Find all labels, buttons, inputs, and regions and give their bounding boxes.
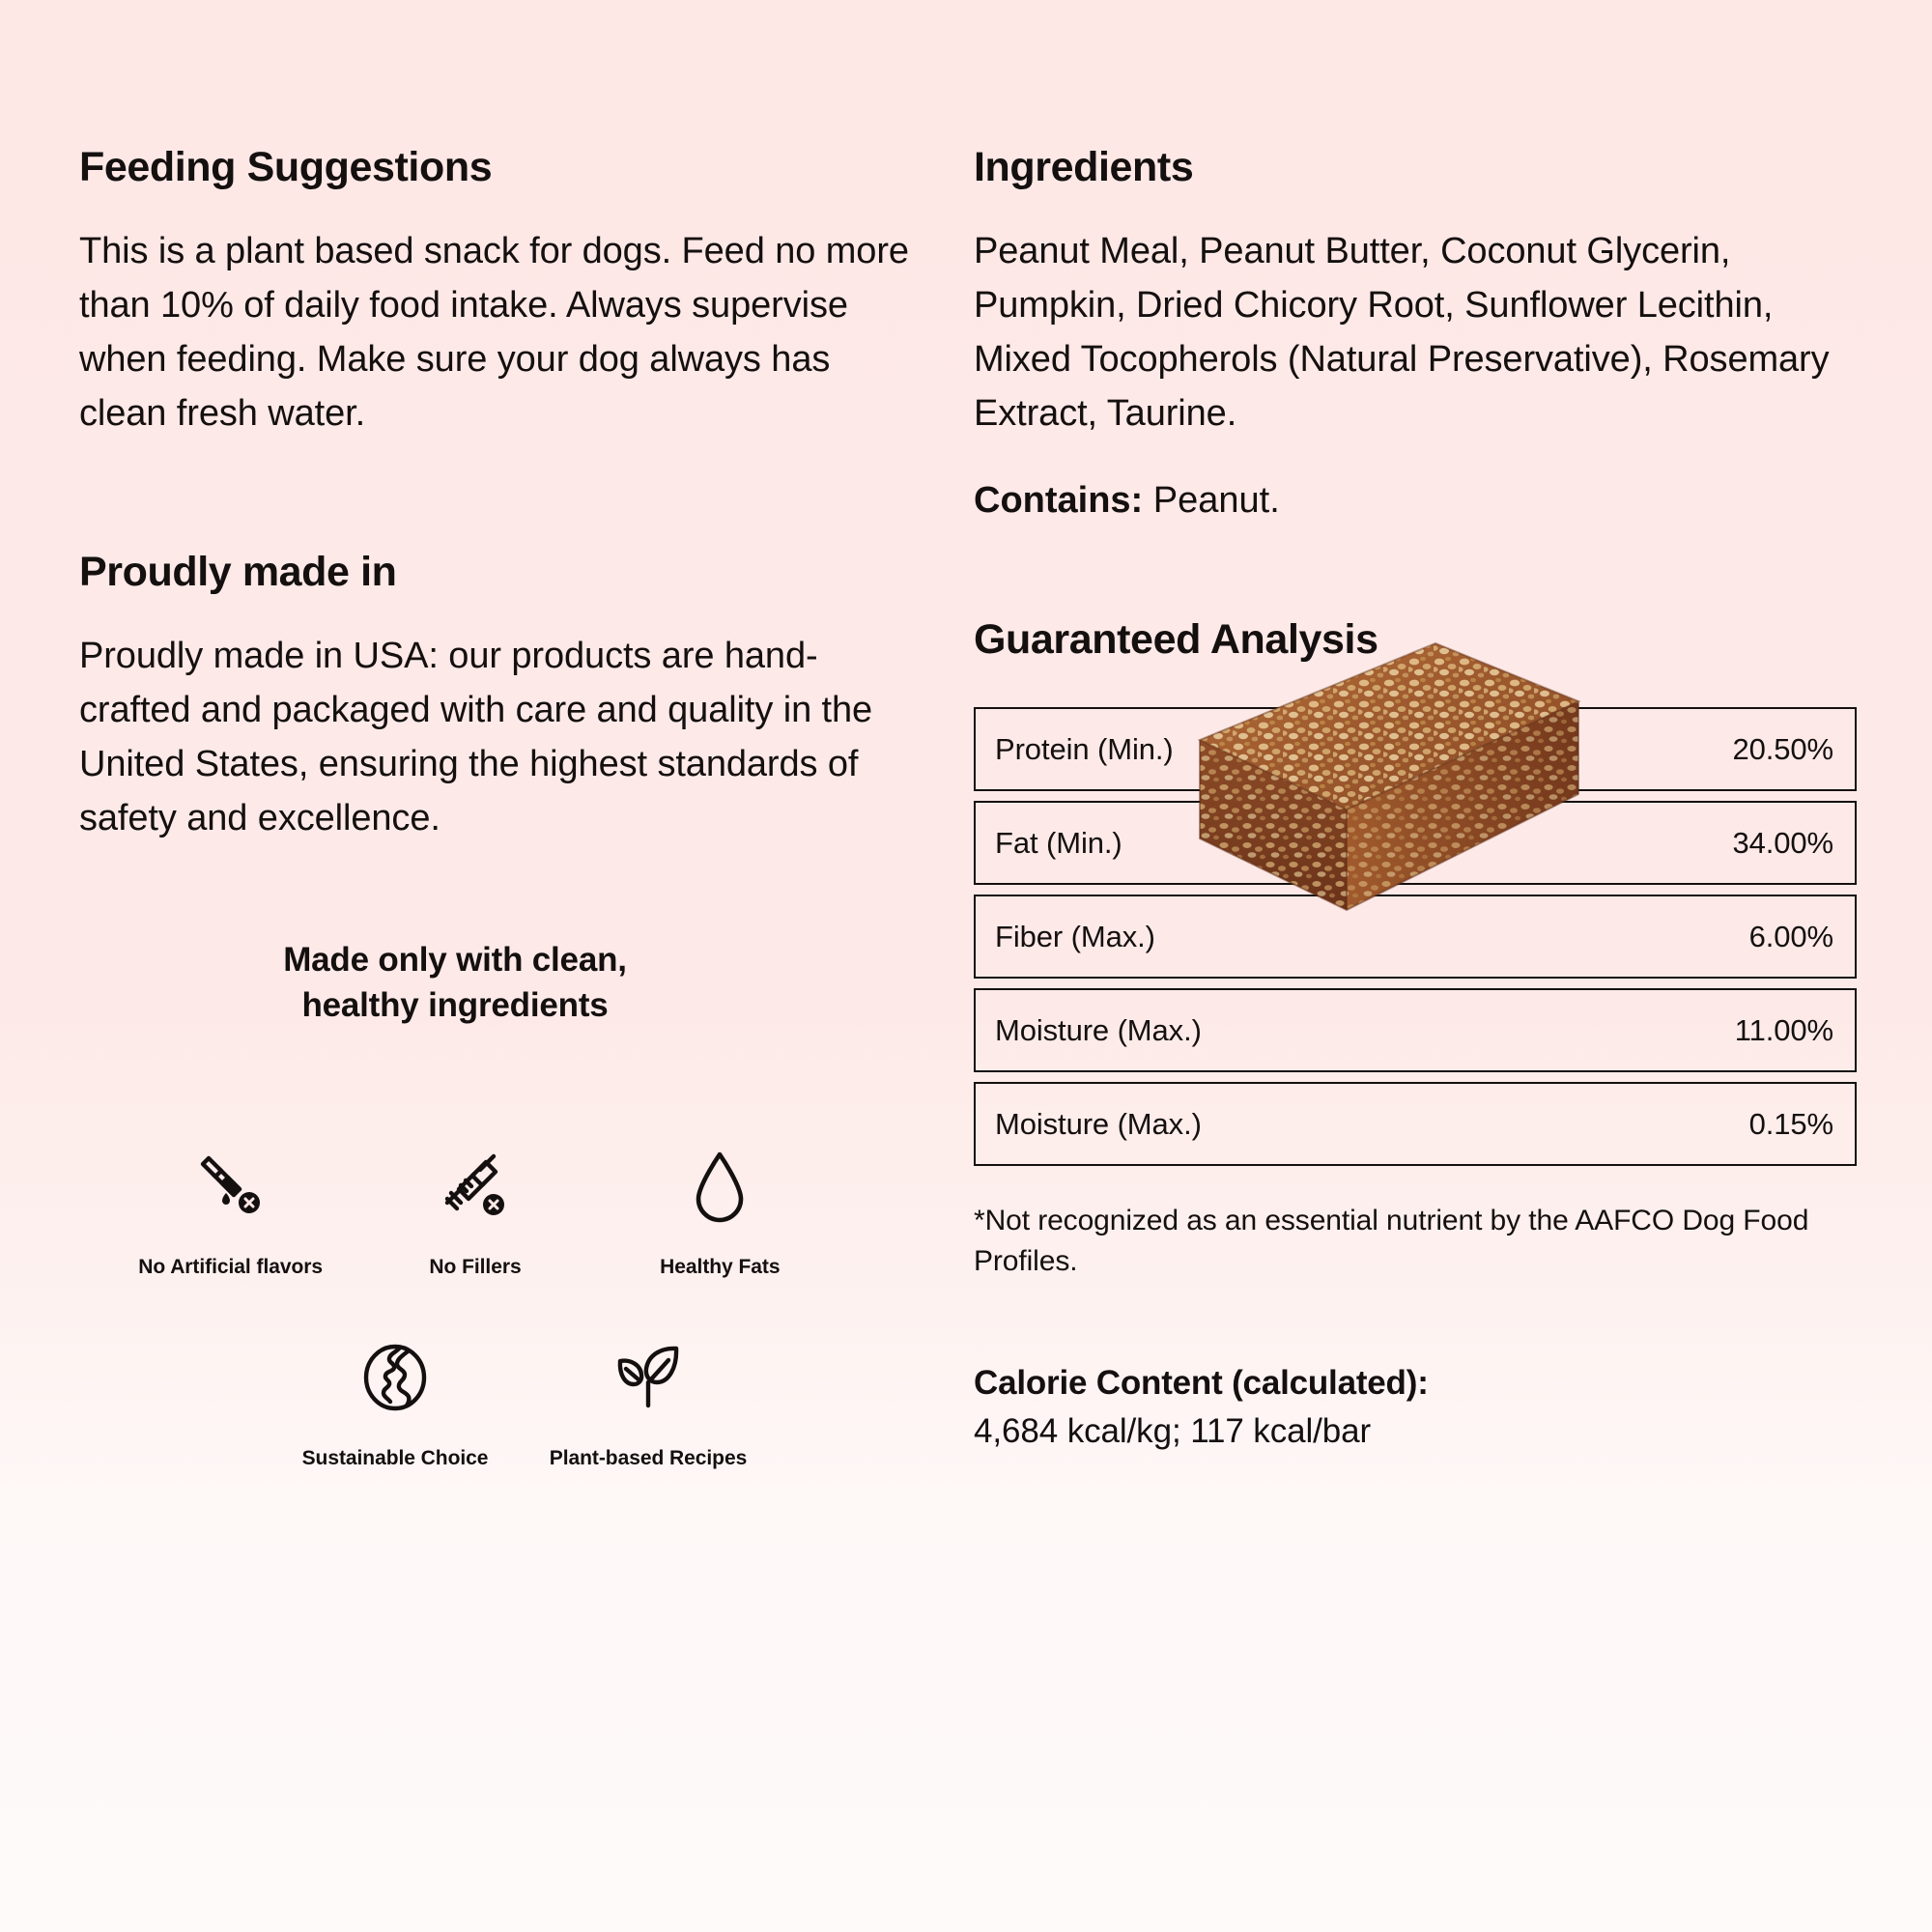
table-row: Moisture (Max.) 0.15% — [974, 1082, 1857, 1166]
clean-ingredients-tagline: Made only with clean, healthy ingredient… — [79, 938, 794, 1027]
badge-label: Plant-based Recipes — [550, 1447, 747, 1470]
feeding-suggestions-title: Feeding Suggestions — [79, 145, 973, 190]
calorie-content-section: Calorie Content (calculated): 4,684 kcal… — [974, 1364, 1857, 1451]
badge-plant-based-recipes: Plant-based Recipes — [522, 1333, 775, 1470]
badge-sustainable-choice: Sustainable Choice — [269, 1333, 522, 1470]
aafco-footnote: *Not recognized as an essential nutrient… — [974, 1201, 1857, 1283]
nutrient-name: Moisture (Max.) — [974, 988, 1534, 1072]
proudly-made-in-title: Proudly made in — [79, 550, 973, 595]
badge-label: Sustainable Choice — [302, 1447, 489, 1470]
product-bar-image — [1057, 551, 1598, 966]
ingredients-title: Ingredients — [974, 145, 1857, 190]
feature-badges-row-1: No Artificial flavors — [108, 1142, 842, 1279]
sprout-leaf-icon — [607, 1333, 690, 1422]
feeding-suggestions-text: This is a plant based snack for dogs. Fe… — [79, 225, 910, 440]
badge-label: No Artificial flavors — [138, 1256, 323, 1279]
contains-value: Peanut. — [1153, 480, 1280, 521]
badge-label: Healthy Fats — [660, 1256, 780, 1279]
table-row: Moisture (Max.) 11.00% — [974, 988, 1857, 1072]
product-info-page: Feeding Suggestions This is a plant base… — [0, 0, 1932, 1932]
proudly-made-in-section: Proudly made in Proudly made in USA: our… — [79, 550, 973, 846]
left-column: Feeding Suggestions This is a plant base… — [79, 145, 973, 1932]
badge-healthy-fats: Healthy Fats — [598, 1142, 842, 1279]
proudly-made-in-text: Proudly made in USA: our products are ha… — [79, 630, 910, 845]
tagline-line-2: healthy ingredients — [116, 983, 794, 1028]
right-column: Ingredients Peanut Meal, Peanut Butter, … — [974, 145, 1857, 1932]
tagline-line-1: Made only with clean, — [116, 938, 794, 982]
badge-no-artificial-flavors: No Artificial flavors — [108, 1142, 353, 1279]
calorie-content-value: 4,684 kcal/kg; 117 kcal/bar — [974, 1412, 1857, 1451]
feature-badges: No Artificial flavors — [79, 1142, 842, 1470]
calorie-content-title: Calorie Content (calculated): — [974, 1364, 1857, 1403]
water-droplet-icon — [678, 1142, 761, 1231]
badge-label: No Fillers — [429, 1256, 521, 1279]
contains-label: Contains: — [974, 480, 1143, 521]
ingredients-text: Peanut Meal, Peanut Butter, Coconut Glyc… — [974, 225, 1857, 440]
contains-allergen-line: Contains: Peanut. — [974, 474, 1857, 528]
feeding-suggestions-section: Feeding Suggestions This is a plant base… — [79, 145, 973, 441]
badge-no-fillers: No Fillers — [353, 1142, 597, 1279]
nutrient-name: Moisture (Max.) — [974, 1082, 1534, 1166]
globe-icon — [354, 1333, 437, 1422]
feature-badges-row-2: Sustainable Choice Plant-based Recipes — [108, 1333, 842, 1470]
syringe-no-icon — [434, 1142, 517, 1231]
nutrient-value: 11.00% — [1534, 988, 1857, 1072]
ingredients-section: Ingredients Peanut Meal, Peanut Butter, … — [974, 145, 1857, 441]
dropper-no-icon — [189, 1142, 272, 1231]
nutrient-value: 0.15% — [1534, 1082, 1857, 1166]
